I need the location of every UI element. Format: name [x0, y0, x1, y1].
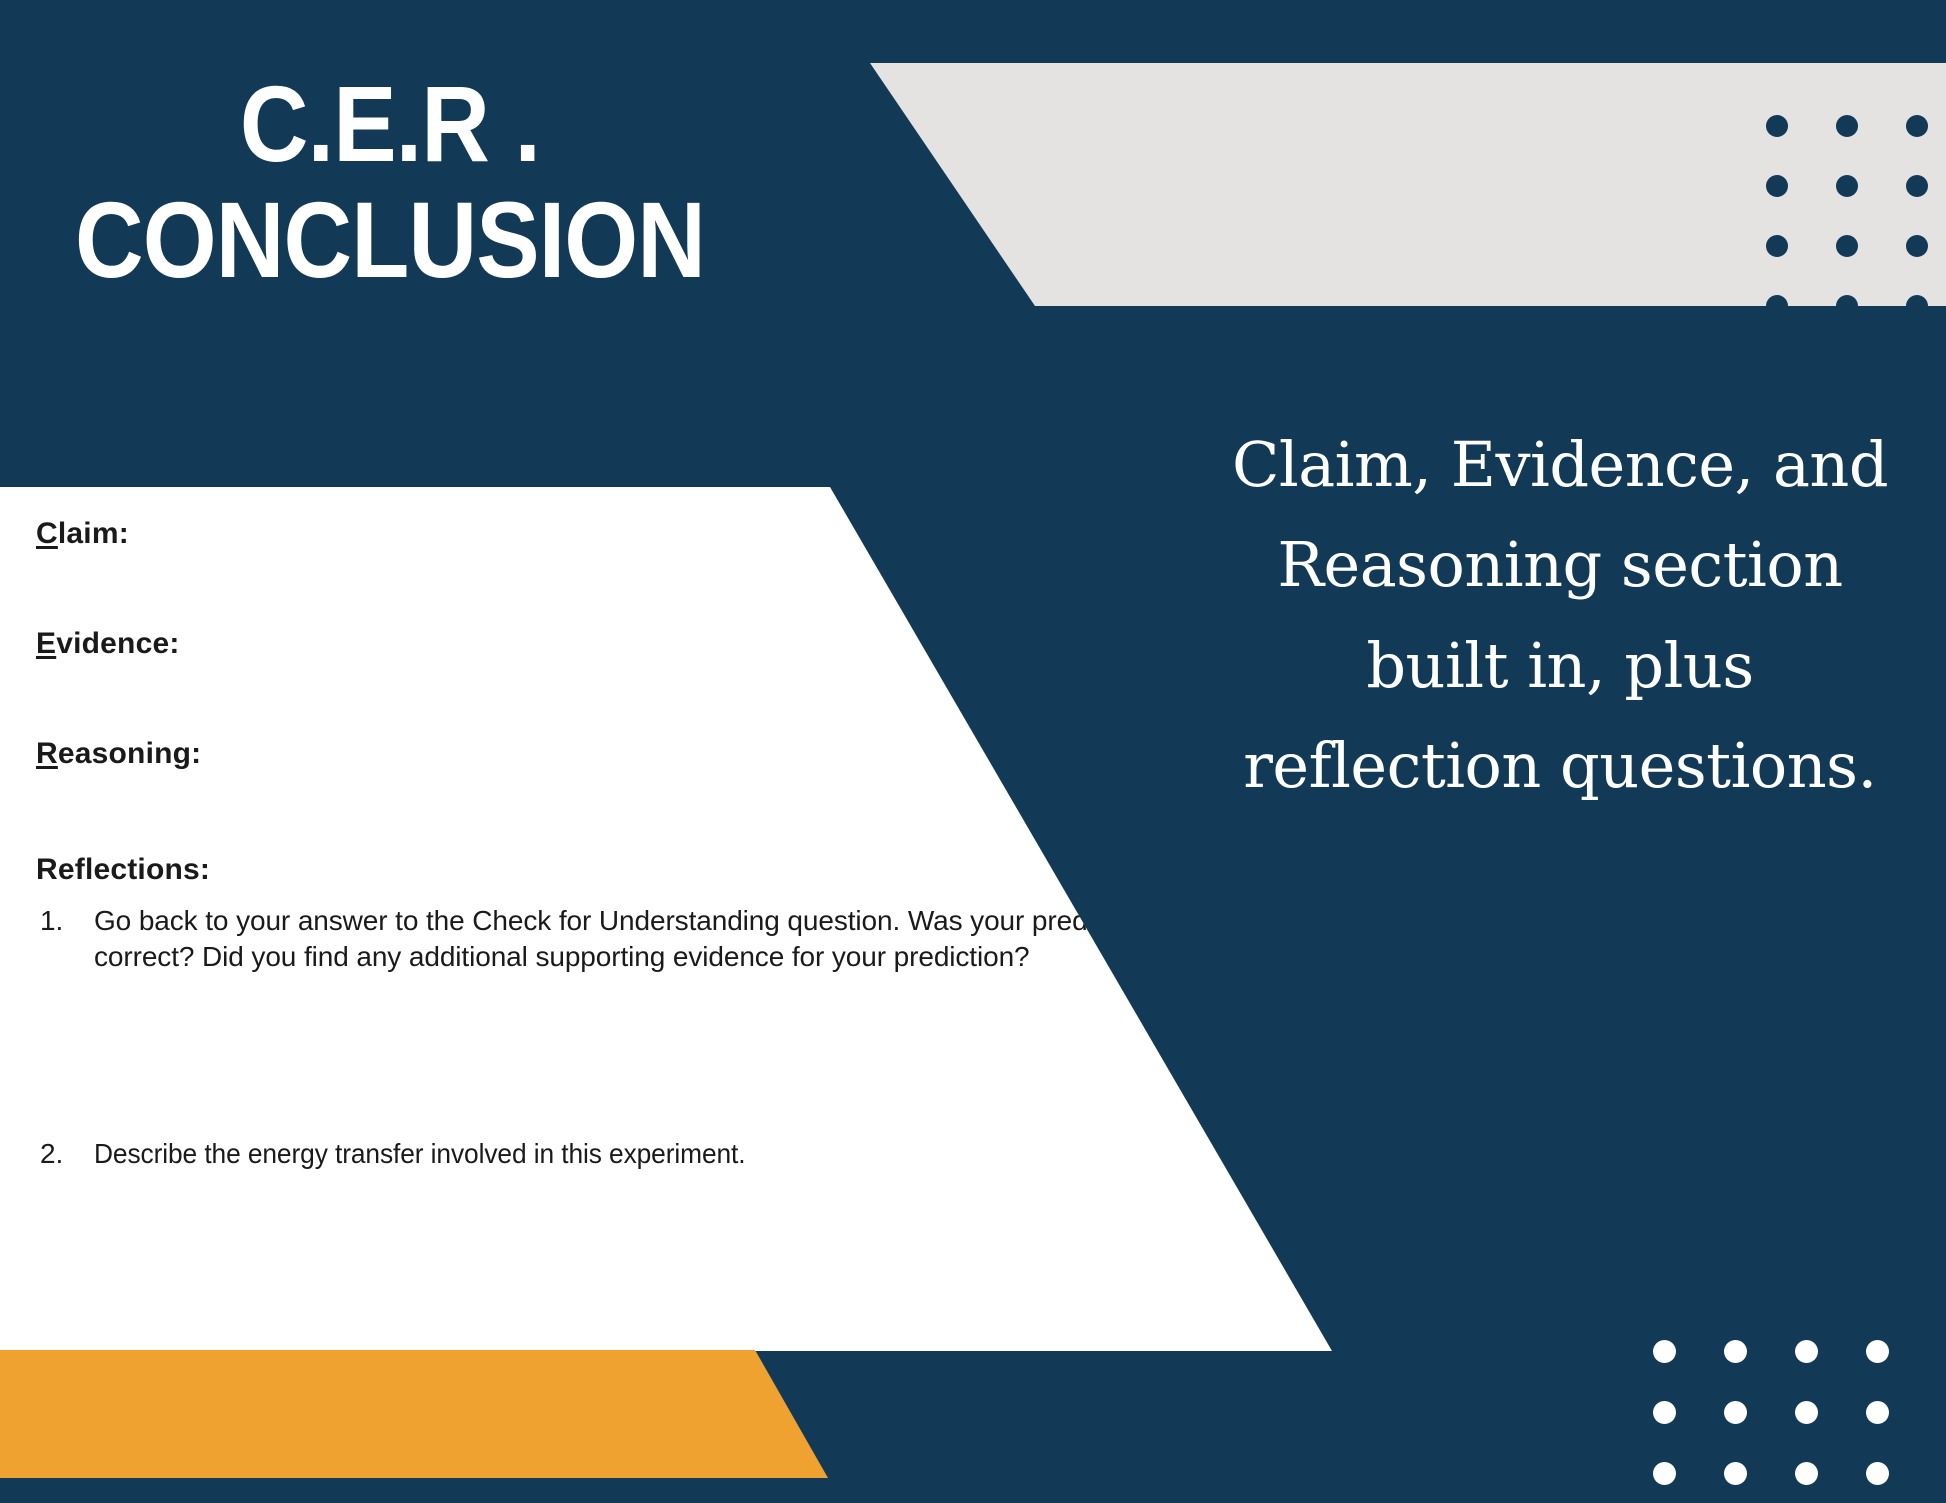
worksheet-preview-panel: Claim: Evidence: Reasoning: Reflections:… — [0, 487, 1340, 1353]
reflections-list: 1. Go back to your answer to the Check f… — [36, 903, 1340, 1172]
reflection-item-number: 1. — [36, 903, 94, 976]
claim-heading-rest: laim: — [58, 517, 129, 550]
claim-heading-initial: C — [36, 517, 58, 550]
dot-decoration — [1795, 1401, 1818, 1424]
dot-decoration — [1836, 175, 1858, 197]
caption-text: Claim, Evidence, and Reasoning section b… — [1230, 415, 1890, 817]
footer-dot-grid — [1653, 1340, 1903, 1503]
reflection-item-text: Describe the energy transfer involved in… — [94, 1136, 1175, 1172]
dot-decoration — [1906, 115, 1928, 137]
dot-decoration — [1795, 1340, 1818, 1363]
reflection-item-text: Go back to your answer to the Check for … — [94, 903, 1244, 976]
reflections-heading: Reflections: — [36, 853, 1340, 887]
slide-title-line-2: CONCLUSION — [47, 186, 733, 294]
slide-canvas: C.E.R . CONCLUSION Claim: Evidence: Reas… — [0, 0, 1946, 1503]
reasoning-heading: Reasoning: — [36, 737, 1340, 771]
orange-accent-bar — [0, 1350, 830, 1478]
evidence-heading-initial: E — [36, 627, 56, 660]
dot-decoration — [1906, 175, 1928, 197]
reflection-item: 2. Describe the energy transfer involved… — [36, 1136, 1340, 1172]
slide-title-line-1: C.E.R . — [47, 70, 733, 186]
slide-title: C.E.R . CONCLUSION — [0, 70, 780, 294]
reflection-item-number: 2. — [36, 1136, 94, 1172]
reflection-item: 1. Go back to your answer to the Check f… — [36, 903, 1340, 976]
evidence-heading: Evidence: — [36, 627, 1340, 661]
worksheet-content: Claim: Evidence: Reasoning: Reflections:… — [0, 487, 1340, 1353]
dot-decoration — [1906, 235, 1928, 257]
banner-dot-grid — [1766, 115, 1946, 320]
dot-decoration — [1724, 1401, 1747, 1424]
dot-decoration — [1724, 1462, 1747, 1485]
dot-decoration — [1836, 235, 1858, 257]
dot-decoration — [1836, 115, 1858, 137]
dot-decoration — [1724, 1340, 1747, 1363]
reasoning-heading-rest: easoning: — [58, 737, 201, 770]
claim-heading: Claim: — [36, 517, 1340, 551]
dot-decoration — [1795, 1462, 1818, 1485]
dot-decoration — [1653, 1340, 1676, 1363]
dot-decoration — [1766, 235, 1788, 257]
dot-decoration — [1866, 1401, 1889, 1424]
evidence-heading-rest: vidence: — [56, 627, 179, 660]
dot-decoration — [1766, 115, 1788, 137]
dot-decoration — [1836, 295, 1858, 317]
dot-decoration — [1866, 1340, 1889, 1363]
reasoning-heading-initial: R — [36, 737, 58, 770]
dot-decoration — [1866, 1462, 1889, 1485]
dot-decoration — [1906, 295, 1928, 317]
dot-decoration — [1766, 295, 1788, 317]
dot-decoration — [1653, 1462, 1676, 1485]
dot-decoration — [1653, 1401, 1676, 1424]
dot-decoration — [1766, 175, 1788, 197]
